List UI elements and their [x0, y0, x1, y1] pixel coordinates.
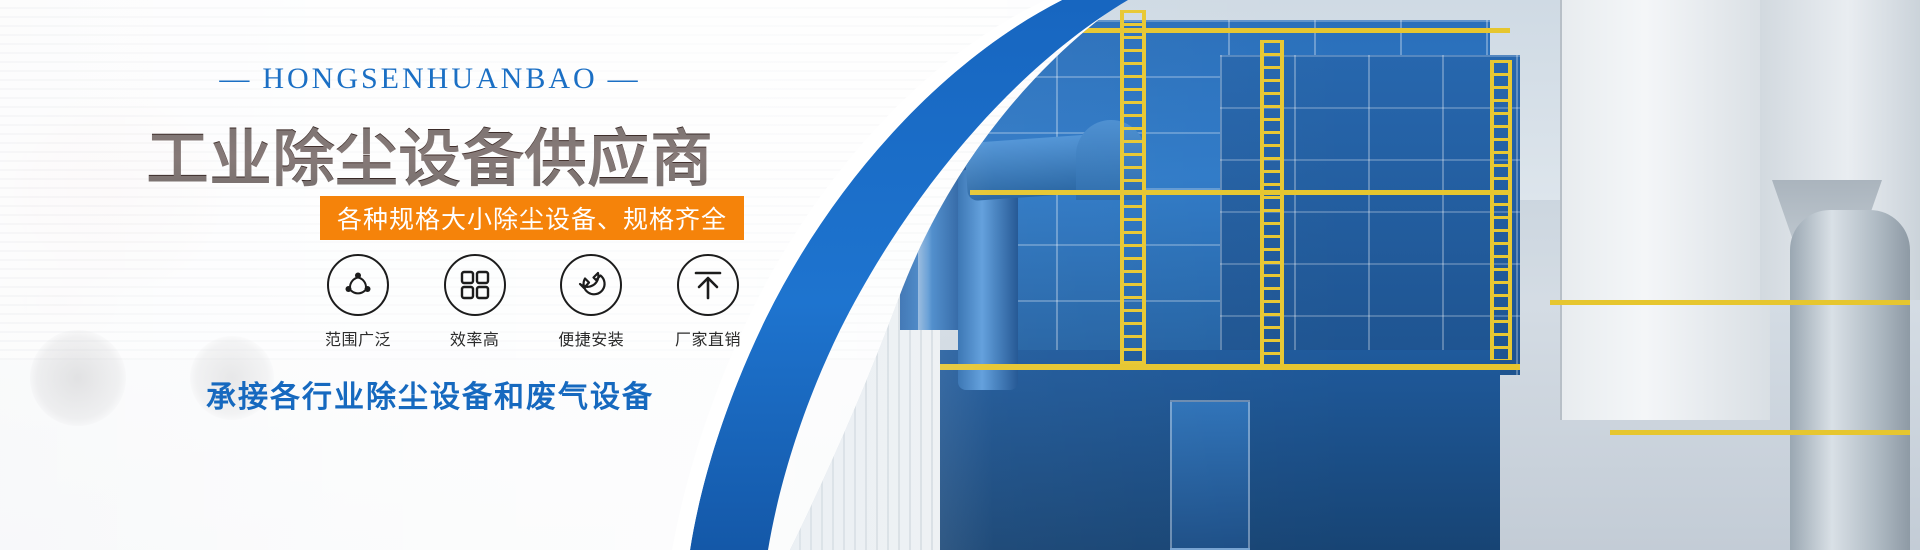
- feature-item-installation[interactable]: 便捷安装: [541, 254, 641, 350]
- feature-item-direct-sales[interactable]: 厂家直销: [658, 254, 758, 350]
- orange-subtitle-banner: 各种规格大小除尘设备、规格齐全: [320, 196, 744, 240]
- pinyin-tagline: —HONGSENHUANBAO—: [0, 62, 860, 96]
- hero-banner: —HONGSENHUANBAO— 工业除尘设备供应商 各种规格大小除尘设备、规格…: [0, 0, 1920, 550]
- page-title: 工业除尘设备供应商: [0, 108, 860, 198]
- feature-label: 便捷安装: [541, 326, 641, 350]
- feature-icon-circle: [327, 254, 389, 316]
- dash-left: —: [209, 62, 262, 96]
- feature-label: 范围广泛: [308, 326, 408, 350]
- arrow-up-bar-icon: [692, 269, 724, 301]
- grid-four-squares-icon: [459, 269, 491, 301]
- wrench-icon: [574, 268, 608, 302]
- feature-label: 效率高: [425, 326, 525, 350]
- feature-icon-circle: [677, 254, 739, 316]
- dash-right: —: [598, 62, 651, 96]
- feature-label: 厂家直销: [658, 326, 758, 350]
- bottom-tagline: 承接各行业除尘设备和废气设备: [0, 372, 860, 416]
- feature-item-efficiency[interactable]: 效率高: [425, 254, 525, 350]
- feature-list: 范围广泛 效率高: [308, 254, 758, 350]
- orange-subtitle-text: 各种规格大小除尘设备、规格齐全: [337, 200, 727, 236]
- hero-content: —HONGSENHUANBAO— 工业除尘设备供应商 各种规格大小除尘设备、规格…: [0, 0, 860, 550]
- share-network-icon: [341, 268, 375, 302]
- feature-item-range[interactable]: 范围广泛: [308, 254, 408, 350]
- feature-icon-circle: [444, 254, 506, 316]
- feature-icon-circle: [560, 254, 622, 316]
- pinyin-tagline-text: HONGSENHUANBAO: [262, 62, 597, 95]
